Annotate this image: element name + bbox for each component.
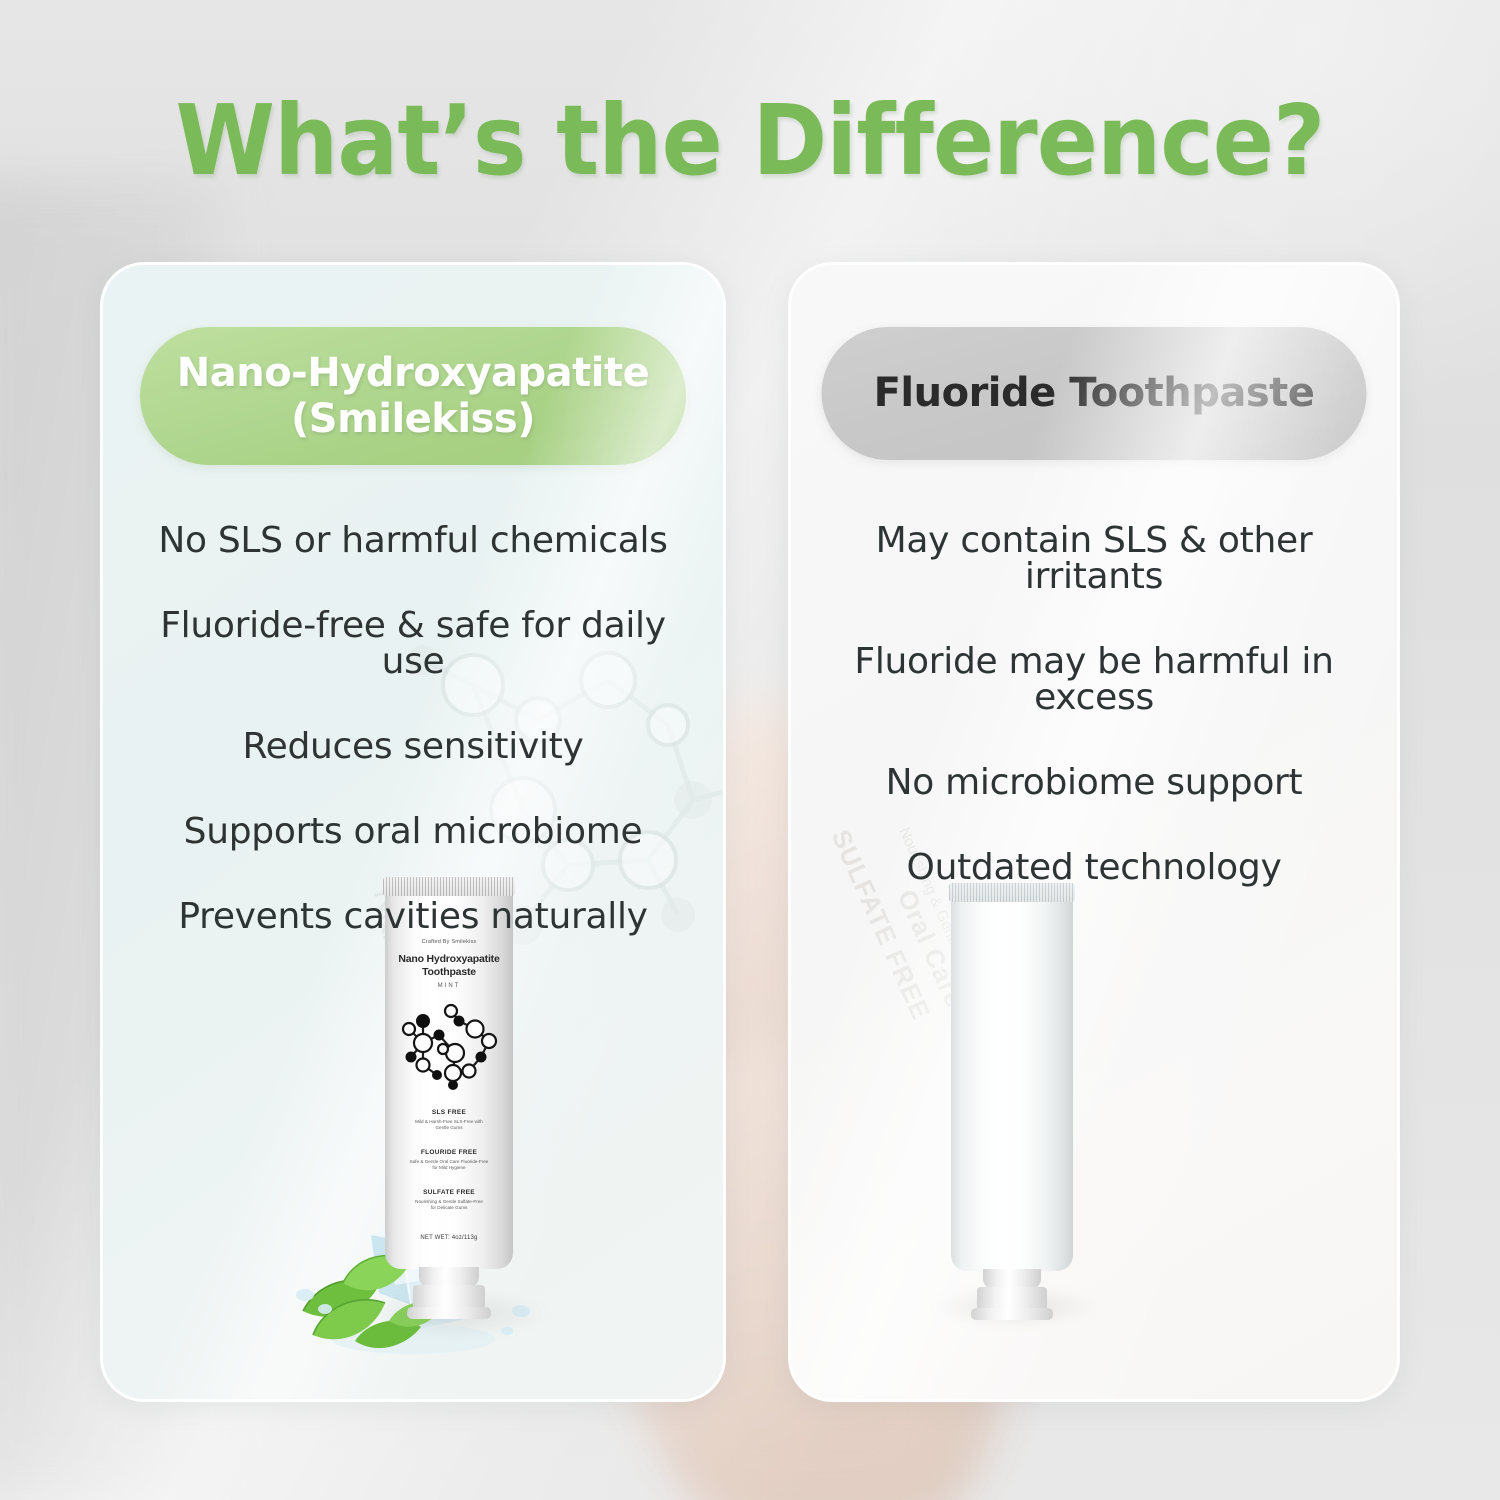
tube-molecule-graphic-icon bbox=[397, 999, 501, 1091]
comparison-card-fluoride-toothpaste: SULFATE FREE Nourishing & Gentle Sulfate… bbox=[788, 262, 1400, 1402]
tube-shadow bbox=[933, 1287, 1101, 1327]
tube-claim-sub-line-1: Safe & Gentle Oral Care Fluoride-Free bbox=[385, 1159, 513, 1165]
list-item: Fluoride may be harmful in excess bbox=[791, 644, 1397, 716]
tube-shoulder bbox=[419, 1267, 479, 1287]
tube-claim-heading: SLS FREE bbox=[385, 1109, 513, 1116]
page-title: What’s the Difference? bbox=[53, 92, 1448, 189]
list-item: May contain SLS & other irritants bbox=[791, 523, 1397, 595]
tube-claim-sub: Nourishing & Gentle Sulfate-Free for Del… bbox=[385, 1199, 513, 1211]
tube-cap-base bbox=[407, 1307, 491, 1319]
list-item: Reduces sensitivity bbox=[103, 729, 723, 765]
tube-body bbox=[951, 883, 1073, 1271]
list-item: No microbiome support bbox=[791, 765, 1397, 801]
tube-cap bbox=[977, 1287, 1047, 1315]
tube-claim-sub-line-2: for Delicate Gums bbox=[385, 1205, 513, 1211]
tube-claim-heading: SULFATE FREE bbox=[385, 1189, 513, 1196]
tube-cap-base bbox=[971, 1308, 1053, 1320]
tube-shadow bbox=[361, 1291, 547, 1337]
card-header-pill-fluoride-toothpaste: Fluoride Toothpaste bbox=[822, 327, 1367, 460]
list-item: Fluoride-free & safe for daily use bbox=[103, 608, 723, 680]
benefit-list-fluoride-toothpaste: May contain SLS & other irritants Fluori… bbox=[791, 523, 1397, 935]
tube-cap bbox=[413, 1285, 485, 1315]
tube-shoulder bbox=[983, 1269, 1041, 1289]
tube-claim-sub: Mild & Harsh-Free SLS-Free with Gentle G… bbox=[385, 1119, 513, 1131]
list-item: Outdated technology bbox=[791, 850, 1397, 886]
tube-claim-sub-line-2: Gentle Gums bbox=[385, 1125, 513, 1131]
card-header-label: Fluoride Toothpaste bbox=[874, 370, 1315, 416]
tube-claim-sub-line-1: Mild & Harsh-Free SLS-Free with bbox=[385, 1119, 513, 1125]
tube-claim-sub-line-1: Nourishing & Gentle Sulfate-Free bbox=[385, 1199, 513, 1205]
card-header-pill-nano-hydroxyapatite: Nano-Hydroxyapatite (Smilekiss) bbox=[140, 327, 686, 465]
mint-and-ice-decoration-icon bbox=[293, 1143, 543, 1373]
tube-claim-sub: Safe & Gentle Oral Care Fluoride-Free fo… bbox=[385, 1159, 513, 1171]
card-header-line-2: (Smilekiss) bbox=[177, 396, 650, 442]
card-header-line-1: Fluoride Toothpaste bbox=[874, 370, 1315, 416]
card-header-label: Nano-Hydroxyapatite (Smilekiss) bbox=[177, 350, 650, 443]
list-item: No SLS or harmful chemicals bbox=[103, 523, 723, 559]
tube-claim-sub-line-2: for Mild Hygiene bbox=[385, 1165, 513, 1171]
toothpaste-tube-plain bbox=[951, 883, 1073, 1313]
benefit-list-nano-hydroxyapatite: No SLS or harmful chemicals Fluoride-fre… bbox=[103, 523, 723, 984]
tube-net-weight: NET WET: 4oz/113g bbox=[385, 1235, 513, 1241]
list-item: Supports oral microbiome bbox=[103, 814, 723, 850]
tube-claim-heading: FLOURIDE FREE bbox=[385, 1149, 513, 1156]
card-header-line-1: Nano-Hydroxyapatite bbox=[177, 350, 650, 396]
comparison-card-nano-hydroxyapatite: Nano Hydroxyapatite Toothpaste Nano-Hydr… bbox=[100, 262, 726, 1402]
list-item: Prevents cavities naturally bbox=[103, 899, 723, 935]
